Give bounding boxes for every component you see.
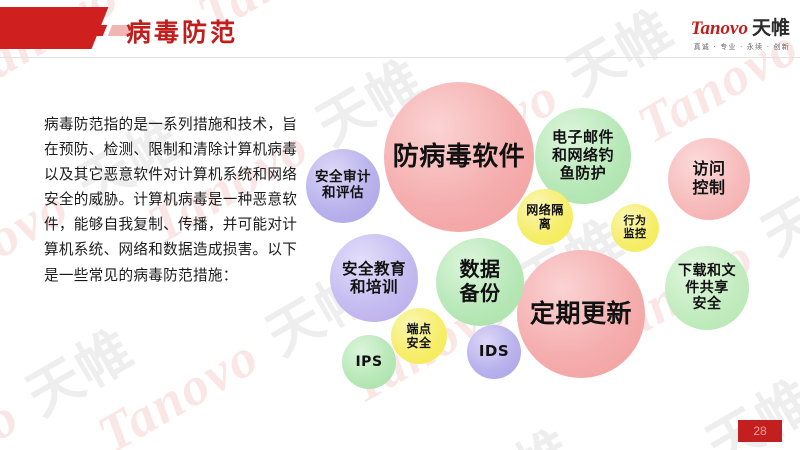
slide-root: Tanovo 天帷Tanovo 天帷Tanovo 天帷Tanovo 天帷Tano…: [0, 0, 800, 450]
bubble-label: IDS: [473, 343, 515, 361]
brand-logo: Tanovo 天帷 真诚 · 专业 · 永续 · 创新: [691, 13, 790, 52]
bubble-label: 端点安全: [400, 322, 437, 350]
bubble-security-education[interactable]: 安全教育和培训: [330, 234, 418, 322]
body-paragraph: 病毒防范指的是一系列措施和技术，旨在预防、检测、限制和清除计算机病毒以及其它恶意…: [44, 112, 306, 288]
bubble-access-control[interactable]: 访问控制: [668, 138, 750, 220]
bubble-label: 安全教育和培训: [336, 260, 412, 297]
bubble-download-file-sharing[interactable]: 下载和文件共享安全: [665, 246, 749, 330]
bubble-data-backup[interactable]: 数据备份: [436, 238, 524, 326]
bubble-label: IPS: [349, 354, 388, 371]
page-number-badge: 28: [738, 420, 782, 442]
bubble-endpoint-security[interactable]: 端点安全: [391, 308, 447, 364]
bubble-label: 下载和文件共享安全: [672, 263, 742, 313]
header-accent-dash-dark: [82, 25, 107, 36]
header-divider: [0, 57, 800, 58]
bubble-label: 防病毒软件: [387, 142, 532, 173]
bubble-label: 网络隔离: [520, 203, 570, 231]
logo-text-en: Tanovo: [691, 18, 748, 40]
bubble-regular-update[interactable]: 定期更新: [517, 250, 645, 378]
bubble-label: 电子邮件和网络钓鱼防护: [546, 129, 620, 182]
bubble-ids[interactable]: IDS: [467, 325, 521, 379]
logo-text-cn: 天帷: [752, 13, 790, 40]
bubble-security-audit[interactable]: 安全审计和评估: [306, 149, 380, 223]
page-title: 病毒防范: [126, 13, 238, 49]
bubble-ips[interactable]: IPS: [342, 335, 396, 389]
bubble-behavior-monitoring[interactable]: 行为监控: [611, 204, 659, 252]
bubble-label: 安全审计和评估: [309, 170, 377, 202]
logo-tagline: 真诚 · 专业 · 永续 · 创新: [691, 42, 790, 52]
bubble-anti-virus-software[interactable]: 防病毒软件: [384, 82, 534, 232]
bubble-network-isolation[interactable]: 网络隔离: [517, 189, 573, 245]
bubble-label: 数据备份: [454, 258, 507, 305]
bubble-label: 访问控制: [686, 160, 731, 198]
bubble-label: 定期更新: [524, 299, 638, 329]
slide-header: 病毒防范 Tanovo 天帷 真诚 · 专业 · 永续 · 创新: [0, 0, 800, 58]
bubble-label: 行为监控: [618, 215, 653, 241]
